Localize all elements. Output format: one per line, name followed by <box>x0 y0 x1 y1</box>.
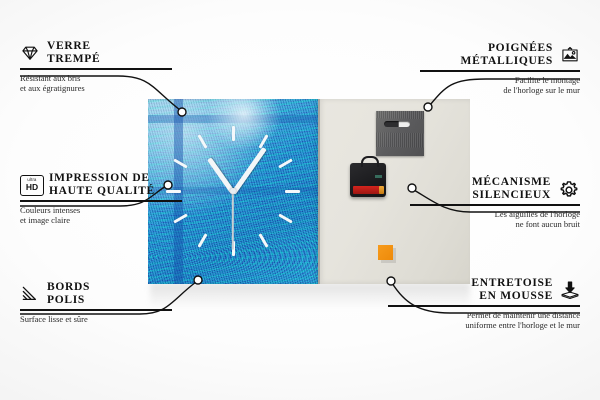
callout-entretoise-mousse: ENTRETOISE EN MOUSSE Permet de maintenir… <box>388 277 580 331</box>
callout-title-line2: EN MOUSSE <box>471 290 553 303</box>
polished-edges-icon <box>20 284 40 304</box>
hanging-frame-icon <box>560 45 580 65</box>
callout-header: ultra HD IMPRESSION DE HAUTE QUALITÉ <box>20 172 190 197</box>
callout-bords-polis: BORDS POLIS Surface lisse et sûre <box>20 281 180 324</box>
callout-title-line2: POLIS <box>47 294 90 307</box>
callout-subtitle-line2: ne font aucun bruit <box>410 219 580 230</box>
foam-spacer-icon <box>560 280 580 300</box>
callout-subtitle-line1: Surface lisse et sûre <box>20 314 180 325</box>
callout-title-line1: ENTRETOISE <box>471 277 553 290</box>
callout-header: VERRE TREMPÉ <box>20 40 180 65</box>
callout-rule <box>420 70 580 72</box>
infographic-canvas: VERRE TREMPÉ Résistant aux bris et aux é… <box>0 0 600 400</box>
callout-title-line1: VERRE <box>47 40 100 53</box>
callout-subtitle-line1: Couleurs intenses <box>20 205 190 216</box>
callout-title-line1: MÉCANISME <box>472 176 551 189</box>
callout-subtitle-line1: Les aiguilles de l'horloge <box>410 209 580 220</box>
callout-subtitle-line2: de l'horloge sur le mur <box>420 85 580 96</box>
callout-rule <box>20 200 182 202</box>
gear-icon <box>558 179 580 199</box>
connector-dot-poignees <box>424 103 432 111</box>
connector-dot-verre-trempe <box>178 108 186 116</box>
callout-mecanisme-silencieux: MÉCANISME SILENCIEUX Les aiguilles de l'… <box>410 176 580 230</box>
callout-subtitle-line2: et image claire <box>20 215 190 226</box>
callout-poignees-metalliques: POIGNÉES MÉTALLIQUES Facilite le montage… <box>420 42 580 96</box>
callout-header: BORDS POLIS <box>20 281 180 306</box>
hd-badge: ultra HD <box>20 175 44 196</box>
callout-title-line1: POIGNÉES <box>461 42 553 55</box>
diamond-icon <box>20 43 40 63</box>
callout-title-line1: IMPRESSION DE <box>49 172 155 185</box>
callout-subtitle-line1: Facilite le montage <box>420 75 580 86</box>
callout-title-line1: BORDS <box>47 281 90 294</box>
ultra-hd-icon: ultra HD <box>20 175 42 195</box>
callout-verre-trempe: VERRE TREMPÉ Résistant aux bris et aux é… <box>20 40 180 94</box>
callout-rule <box>20 309 172 311</box>
callout-impression-hd: ultra HD IMPRESSION DE HAUTE QUALITÉ Cou… <box>20 172 190 226</box>
callout-subtitle-line2: et aux égratignures <box>20 83 180 94</box>
callout-subtitle-line1: Résistant aux bris <box>20 73 180 84</box>
callout-header: ENTRETOISE EN MOUSSE <box>388 277 580 302</box>
callout-subtitle-line1: Permet de maintenir une distance <box>388 310 580 321</box>
callout-header: POIGNÉES MÉTALLIQUES <box>420 42 580 67</box>
callout-header: MÉCANISME SILENCIEUX <box>410 176 580 201</box>
callout-rule <box>410 204 580 206</box>
hd-badge-main: HD <box>26 183 38 192</box>
callout-title-line2: TREMPÉ <box>47 53 100 66</box>
callout-title-line2: MÉTALLIQUES <box>461 55 553 68</box>
connector-dot-bords-polis <box>194 276 202 284</box>
callout-rule <box>388 305 580 307</box>
callout-rule <box>20 68 172 70</box>
callout-title-line2: HAUTE QUALITÉ <box>49 185 155 198</box>
callout-title-line2: SILENCIEUX <box>472 189 551 202</box>
callout-subtitle-line2: uniforme entre l'horloge et le mur <box>388 320 580 331</box>
